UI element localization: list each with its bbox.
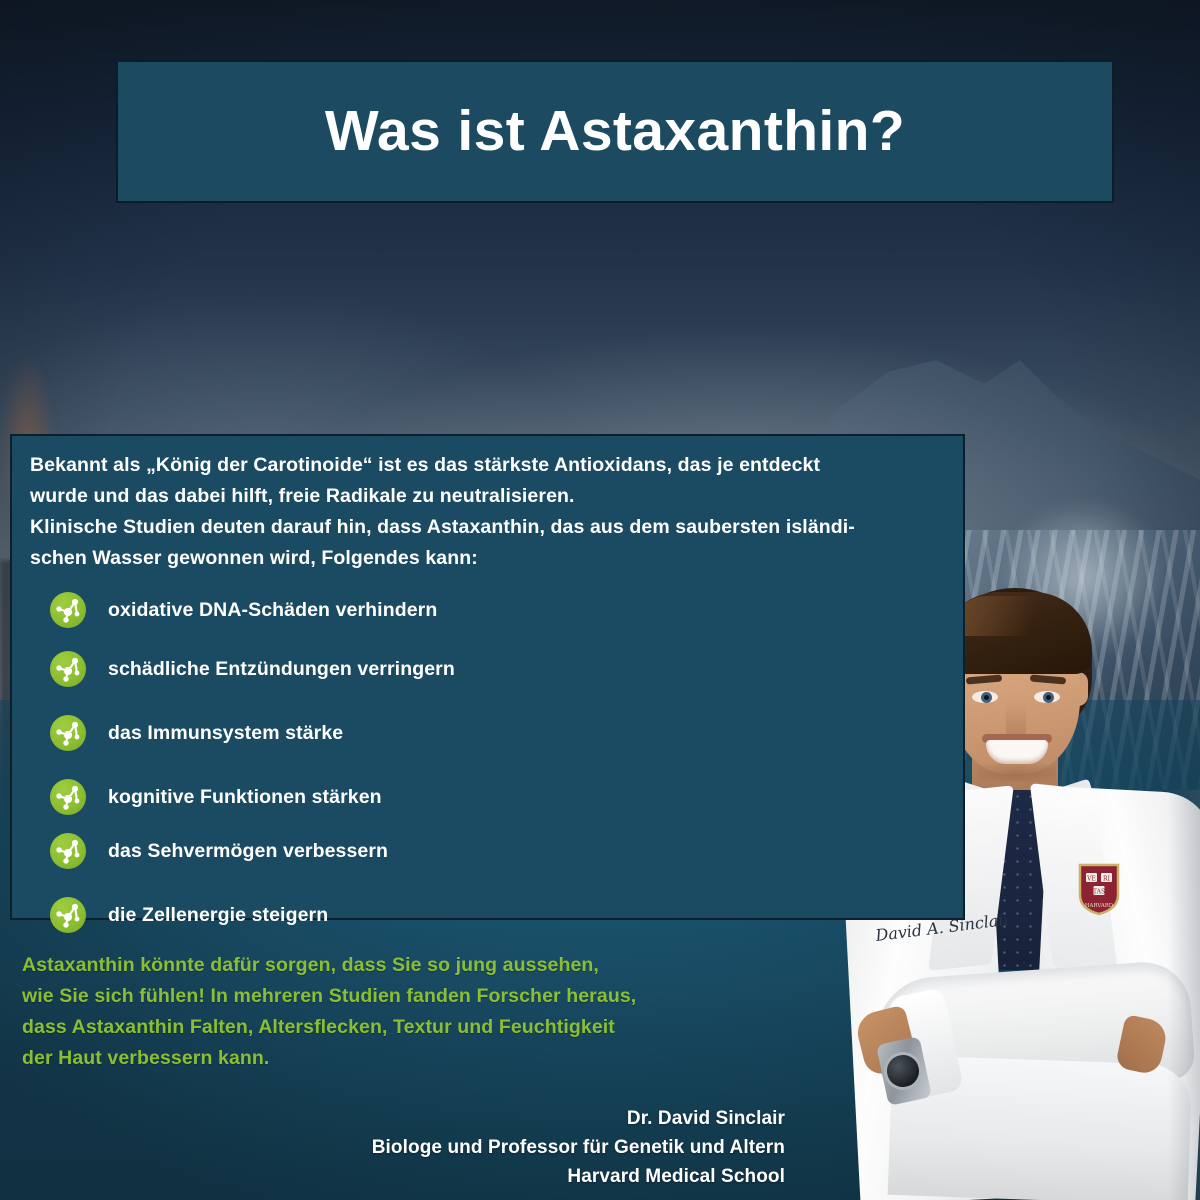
list-item-label: schädliche Entzündungen verringern xyxy=(108,658,455,681)
green-note-line-3: dass Astaxanthin Falten, Altersflecken, … xyxy=(22,1012,782,1043)
page-title: Was ist Astaxanthin? xyxy=(325,103,905,160)
green-note-line-2: wie Sie sich fühlen! In mehreren Studien… xyxy=(22,981,782,1012)
intro-line-4: schen Wasser gewonnen wird, Folgendes ka… xyxy=(30,543,945,574)
harvard-crest-icon: VE RI TAS HARVARD xyxy=(1076,862,1122,916)
attribution-block: Dr. David Sinclair Biologe und Professor… xyxy=(372,1104,785,1191)
benefits-list: oxidative DNA-Schäden verhindern xyxy=(30,592,945,933)
list-item: das Sehvermögen verbessern xyxy=(30,833,945,869)
list-item-label: das Immunsystem stärke xyxy=(108,722,343,745)
svg-text:TAS: TAS xyxy=(1093,889,1105,896)
pupil-right xyxy=(1046,695,1051,700)
pupil-left xyxy=(984,695,989,700)
list-item: die Zellenergie steigern xyxy=(30,897,945,933)
list-item: das Immunsystem stärke xyxy=(30,715,945,751)
hair-highlight xyxy=(948,596,1068,636)
intro-line-2: wurde und das dabei hilft, freie Radikal… xyxy=(30,481,945,512)
title-banner: Was ist Astaxanthin? xyxy=(116,60,1114,203)
list-item: oxidative DNA-Schäden verhindern xyxy=(30,592,945,628)
chin-shadow xyxy=(978,764,1056,782)
molecule-icon xyxy=(50,715,86,751)
content-panel: Bekannt als „König der Carotinoide“ ist … xyxy=(10,434,965,920)
coat-side-shadow xyxy=(1168,790,1200,1200)
list-item-label: oxidative DNA-Schäden verhindern xyxy=(108,599,437,622)
molecule-icon xyxy=(50,833,86,869)
svg-text:RI: RI xyxy=(1103,876,1111,883)
attribution-name: Dr. David Sinclair xyxy=(372,1104,785,1133)
list-item-label: die Zellenergie steigern xyxy=(108,904,328,927)
list-item-label: das Sehvermögen verbessern xyxy=(108,840,388,863)
green-note-line-1: Astaxanthin könnte dafür sorgen, dass Si… xyxy=(22,950,782,981)
intro-line-3: Klinische Studien deuten darauf hin, das… xyxy=(30,512,945,543)
molecule-icon xyxy=(50,592,86,628)
intro-paragraph: Bekannt als „König der Carotinoide“ ist … xyxy=(30,450,945,574)
intro-line-1: Bekannt als „König der Carotinoide“ ist … xyxy=(30,450,945,481)
list-item: schädliche Entzündungen verringern xyxy=(30,651,945,687)
molecule-icon xyxy=(50,779,86,815)
green-highlight-paragraph: Astaxanthin könnte dafür sorgen, dass Si… xyxy=(22,950,782,1074)
green-note-line-4: der Haut verbessern kann. xyxy=(22,1043,782,1074)
attribution-institution: Harvard Medical School xyxy=(372,1162,785,1191)
svg-text:VE: VE xyxy=(1086,876,1096,883)
list-item-label: kognitive Funktionen stärken xyxy=(108,786,382,809)
molecule-icon xyxy=(50,897,86,933)
smile-teeth xyxy=(986,740,1048,764)
list-item: kognitive Funktionen stärken xyxy=(30,779,945,815)
svg-text:HARVARD: HARVARD xyxy=(1085,903,1114,909)
molecule-icon xyxy=(50,651,86,687)
attribution-role: Biologe und Professor für Genetik und Al… xyxy=(372,1133,785,1162)
slide-root: VE RI TAS HARVARD David A. Sinclair Was … xyxy=(0,0,1200,1200)
